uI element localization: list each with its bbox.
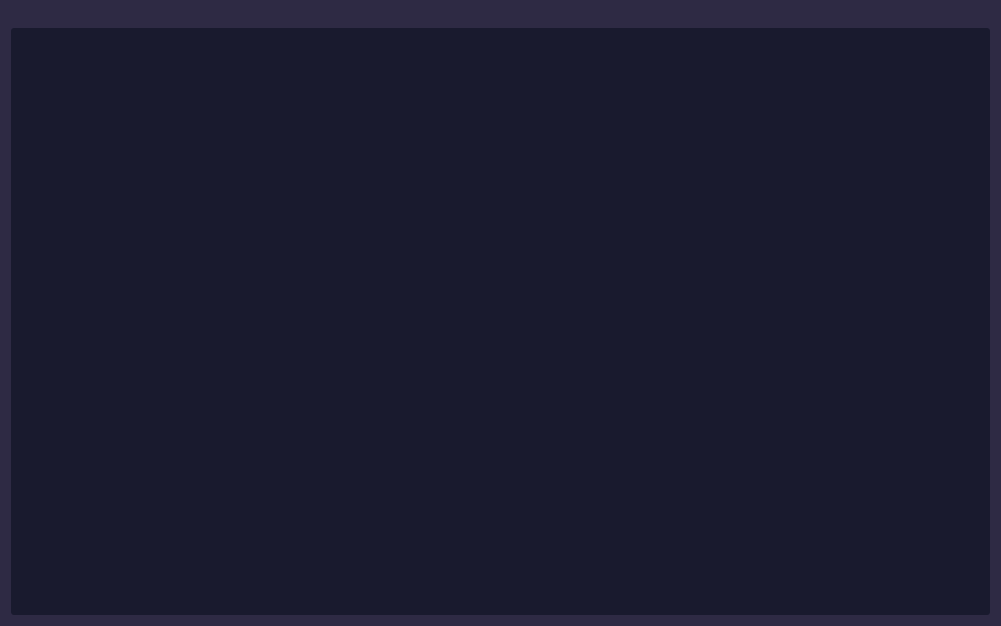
line-chart[interactable] — [11, 28, 990, 488]
app-frame — [0, 0, 1001, 626]
dashboard-panel — [11, 28, 990, 615]
stat-donuts — [11, 488, 990, 615]
